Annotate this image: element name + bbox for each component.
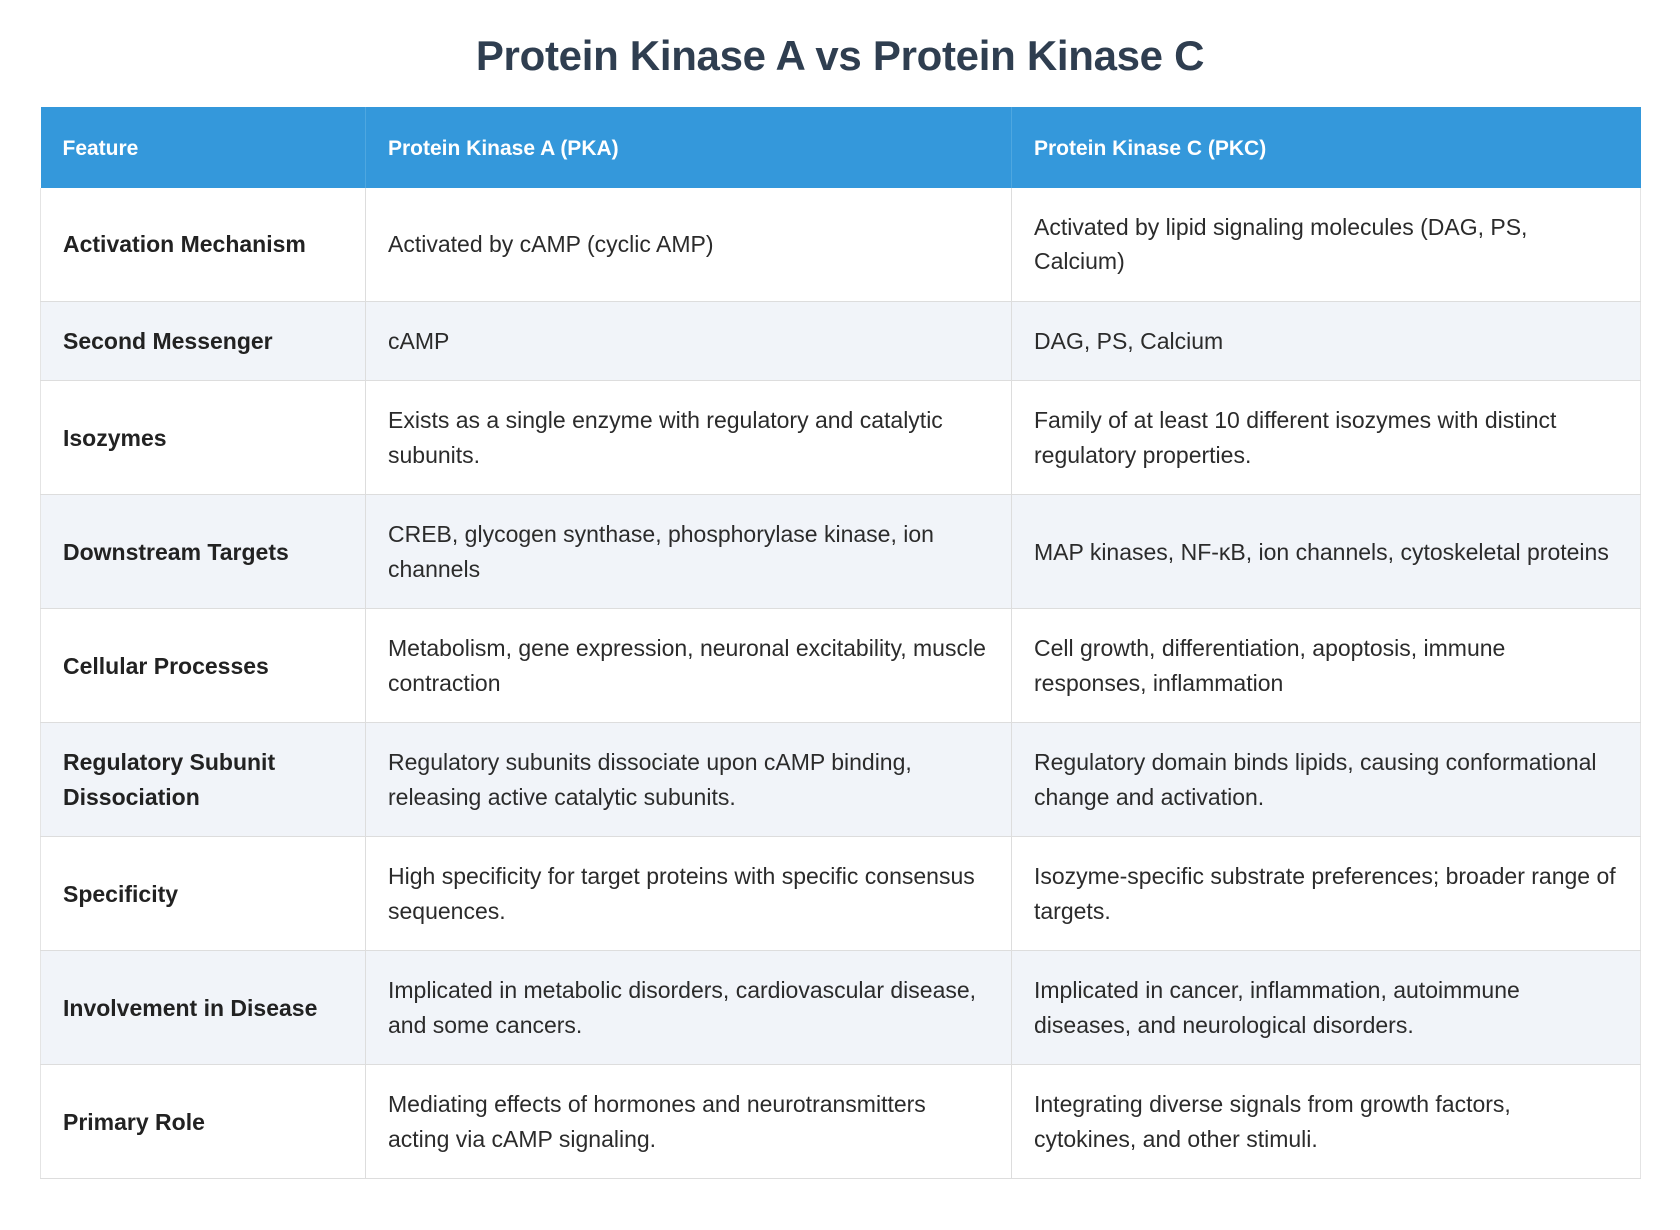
row-feature-label: Downstream Targets (41, 495, 366, 609)
table-row: Activation Mechanism Activated by cAMP (… (41, 188, 1641, 302)
table-row: Second Messenger cAMP DAG, PS, Calcium (41, 301, 1641, 381)
row-pkc-value: DAG, PS, Calcium (1012, 301, 1641, 381)
table-row: Specificity High specificity for target … (41, 837, 1641, 951)
row-pka-value: Regulatory subunits dissociate upon cAMP… (366, 723, 1012, 837)
comparison-table: Feature Protein Kinase A (PKA) Protein K… (40, 107, 1641, 1180)
row-pka-value: CREB, glycogen synthase, phosphorylase k… (366, 495, 1012, 609)
table-header-row: Feature Protein Kinase A (PKA) Protein K… (41, 107, 1641, 188)
row-feature-label: Regulatory Subunit Dissociation (41, 723, 366, 837)
row-feature-label: Cellular Processes (41, 609, 366, 723)
row-feature-label: Isozymes (41, 381, 366, 495)
row-feature-label: Second Messenger (41, 301, 366, 381)
row-pkc-value: Family of at least 10 different isozymes… (1012, 381, 1641, 495)
table-header: Feature Protein Kinase A (PKA) Protein K… (41, 107, 1641, 188)
table-body: Activation Mechanism Activated by cAMP (… (41, 188, 1641, 1179)
page-root: Protein Kinase A vs Protein Kinase C Fea… (0, 0, 1680, 1230)
comparison-table-container: Feature Protein Kinase A (PKA) Protein K… (40, 107, 1640, 1180)
table-row: Involvement in Disease Implicated in met… (41, 951, 1641, 1065)
page-title: Protein Kinase A vs Protein Kinase C (0, 0, 1680, 83)
column-header-pkc: Protein Kinase C (PKC) (1012, 107, 1641, 188)
row-pkc-value: Regulatory domain binds lipids, causing … (1012, 723, 1641, 837)
row-pka-value: Metabolism, gene expression, neuronal ex… (366, 609, 1012, 723)
table-row: Isozymes Exists as a single enzyme with … (41, 381, 1641, 495)
table-row: Primary Role Mediating effects of hormon… (41, 1065, 1641, 1179)
row-pka-value: Implicated in metabolic disorders, cardi… (366, 951, 1012, 1065)
row-feature-label: Involvement in Disease (41, 951, 366, 1065)
row-pka-value: cAMP (366, 301, 1012, 381)
column-header-feature: Feature (41, 107, 366, 188)
row-feature-label: Specificity (41, 837, 366, 951)
row-pkc-value: Activated by lipid signaling molecules (… (1012, 188, 1641, 302)
column-header-pka: Protein Kinase A (PKA) (366, 107, 1012, 188)
row-pka-value: Mediating effects of hormones and neurot… (366, 1065, 1012, 1179)
table-row: Regulatory Subunit Dissociation Regulato… (41, 723, 1641, 837)
row-pkc-value: MAP kinases, NF-κB, ion channels, cytosk… (1012, 495, 1641, 609)
row-pka-value: Exists as a single enzyme with regulator… (366, 381, 1012, 495)
row-pkc-value: Implicated in cancer, inflammation, auto… (1012, 951, 1641, 1065)
row-pka-value: High specificity for target proteins wit… (366, 837, 1012, 951)
row-pkc-value: Cell growth, differentiation, apoptosis,… (1012, 609, 1641, 723)
table-row: Cellular Processes Metabolism, gene expr… (41, 609, 1641, 723)
row-feature-label: Activation Mechanism (41, 188, 366, 302)
row-pkc-value: Isozyme-specific substrate preferences; … (1012, 837, 1641, 951)
row-pka-value: Activated by cAMP (cyclic AMP) (366, 188, 1012, 302)
row-feature-label: Primary Role (41, 1065, 366, 1179)
table-row: Downstream Targets CREB, glycogen syntha… (41, 495, 1641, 609)
row-pkc-value: Integrating diverse signals from growth … (1012, 1065, 1641, 1179)
